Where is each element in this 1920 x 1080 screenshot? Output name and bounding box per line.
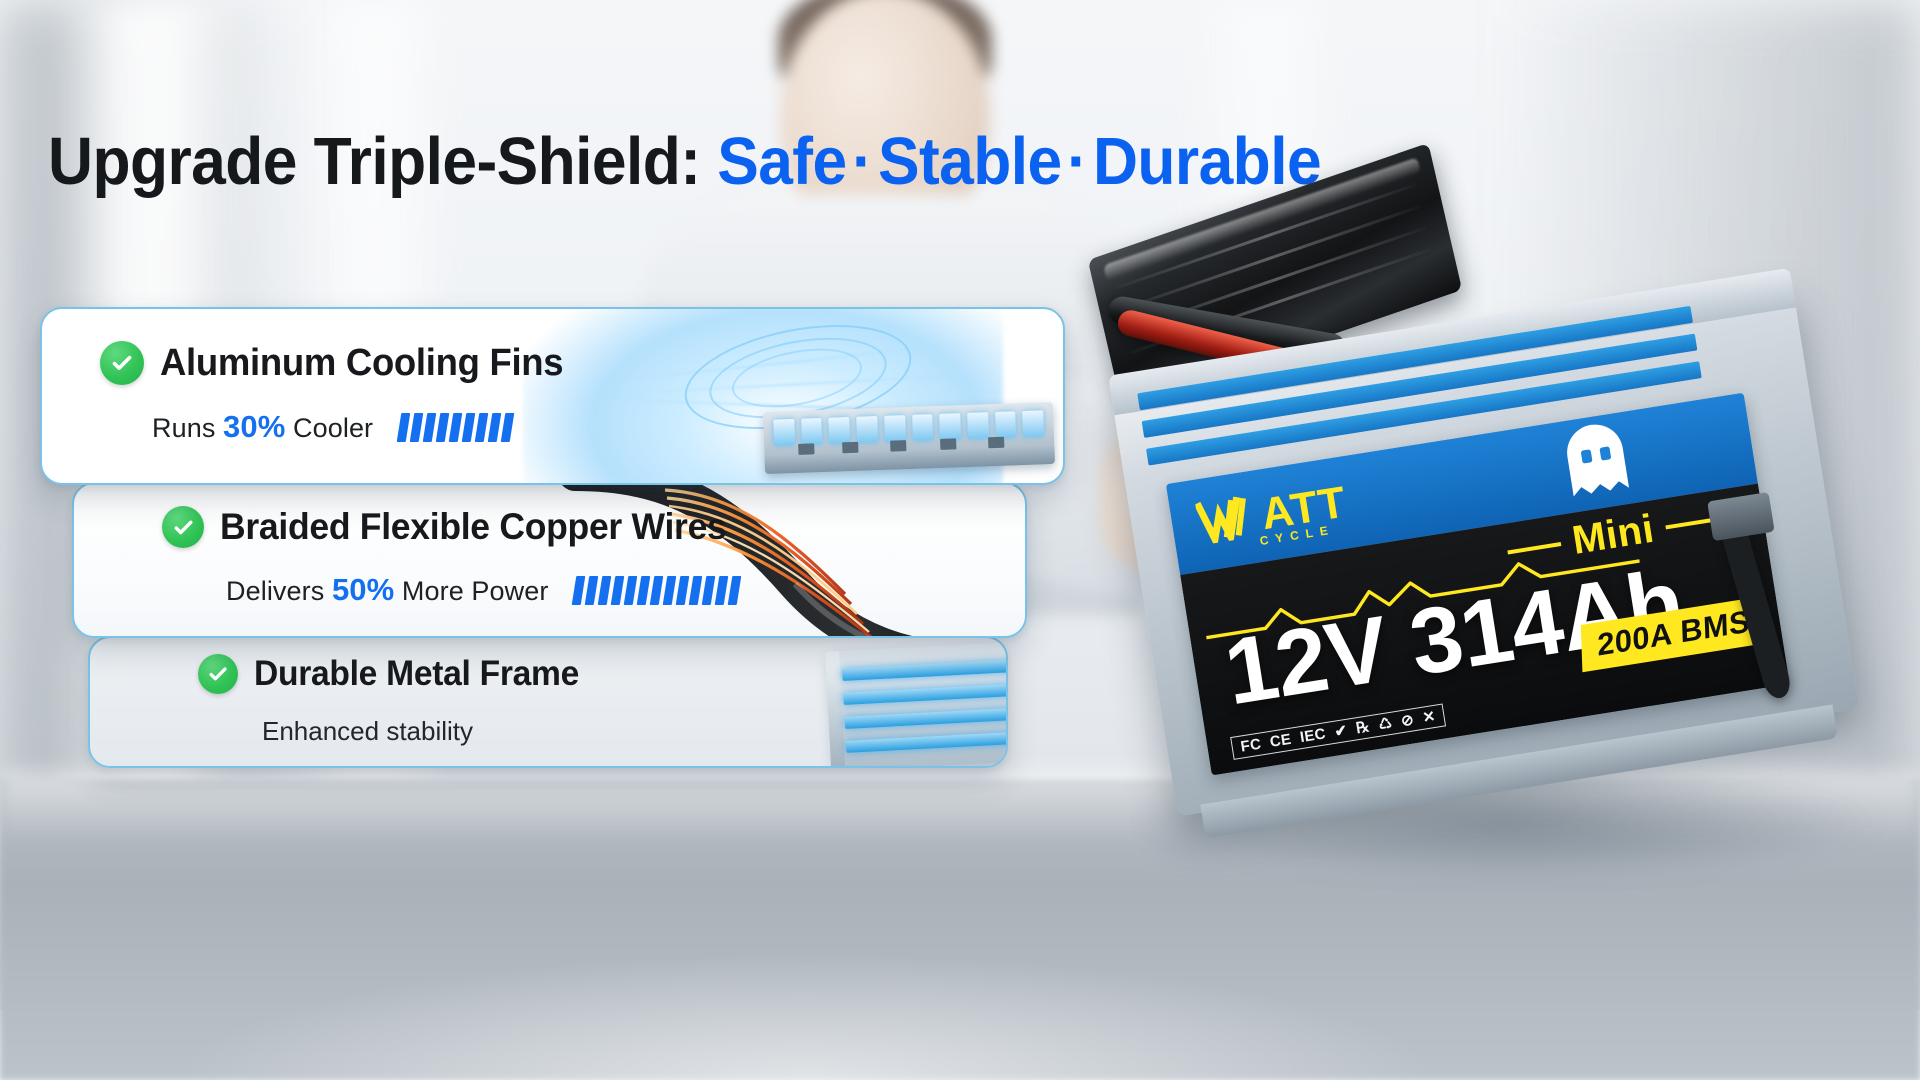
product-battery: ATT CYCLE Mini 12V 314Ah 200A — [1085, 185, 1915, 805]
headline-accent-safe: Safe — [717, 124, 846, 199]
meter-segment — [572, 576, 586, 605]
feature-heading-row: Aluminum Cooling Fins — [100, 341, 580, 385]
feature-subtitle-row: Enhanced stability — [262, 716, 473, 747]
stat-meter-bars — [399, 412, 512, 442]
meter-segment — [689, 576, 703, 605]
ghost-mascot-icon — [1555, 417, 1638, 503]
meter-segment — [676, 576, 690, 605]
poster-stage: Upgrade Triple-Shield: Safe·Stable·Durab… — [0, 0, 1920, 1080]
check-circle-icon — [198, 654, 238, 694]
meter-segment — [702, 576, 716, 605]
cert-recycle-icon: ♺ — [1378, 716, 1394, 733]
meter-segment — [663, 576, 677, 605]
meter-segment — [397, 413, 411, 442]
meter-segment — [585, 576, 599, 605]
cert-ce-icon: CE — [1269, 732, 1293, 750]
cert-nodispose-icon: ⊘ — [1400, 712, 1415, 729]
feature-stat-text: Delivers 50% More Power — [226, 572, 548, 608]
meter-segment — [462, 413, 476, 442]
headline-separator: · — [847, 124, 878, 199]
feature-stat-text: Runs 30% Cooler — [152, 409, 373, 445]
headline-dark-text: Upgrade Triple-Shield: — [48, 124, 700, 199]
cert-crossed-bin-icon: ✕ — [1422, 709, 1437, 726]
feature-heading-row: Braided Flexible Copper Wires — [162, 506, 748, 548]
meter-segment — [598, 576, 612, 605]
stat-meter-bars — [574, 575, 739, 605]
feature-stat-row: Runs 30% Cooler — [152, 409, 512, 445]
feature-card-durable-metal-frame[interactable]: Durable Metal Frame Enhanced stability — [88, 636, 1008, 768]
check-circle-icon — [162, 506, 204, 548]
stat-value: 30% — [223, 409, 285, 444]
meter-segment — [624, 576, 638, 605]
watt-w-icon — [1195, 490, 1263, 545]
meter-segment — [611, 576, 625, 605]
meter-segment — [488, 413, 502, 442]
stat-prefix: Runs — [152, 413, 215, 443]
feature-title: Durable Metal Frame — [254, 654, 579, 694]
meter-segment — [436, 413, 450, 442]
meter-segment — [449, 413, 463, 442]
stat-suffix: Cooler — [293, 413, 373, 443]
check-circle-icon — [100, 341, 144, 385]
feature-card-braided-copper-wires[interactable]: Braided Flexible Copper Wires Delivers 5… — [72, 482, 1027, 638]
battery-main-body: ATT CYCLE Mini 12V 314Ah 200A — [1111, 284, 1860, 817]
meter-segment — [715, 576, 729, 605]
feature-stat-row: Delivers 50% More Power — [226, 572, 739, 608]
meter-segment — [475, 413, 489, 442]
cert-rohs-icon: ℞ — [1355, 719, 1371, 736]
cert-fcc-icon: FC — [1240, 736, 1263, 754]
cert-check-icon: ✔ — [1333, 723, 1348, 740]
cert-iec-icon: IEC — [1299, 726, 1327, 745]
headline-accent-stable: Stable — [878, 124, 1062, 199]
badge-dash-left — [1507, 542, 1561, 554]
metal-frame-module-graphic — [829, 636, 1008, 768]
feature-title: Braided Flexible Copper Wires — [220, 506, 727, 548]
stat-prefix: Delivers — [226, 576, 324, 606]
feature-title: Aluminum Cooling Fins — [160, 342, 563, 385]
meter-segment — [410, 413, 424, 442]
stat-suffix: More Power — [402, 576, 549, 606]
feature-subtitle: Enhanced stability — [262, 716, 473, 746]
feature-heading-row: Durable Metal Frame — [198, 654, 593, 694]
feature-card-aluminum-cooling-fins[interactable]: Aluminum Cooling Fins Runs 30% Cooler — [40, 307, 1065, 485]
meter-segment — [650, 576, 664, 605]
background-floor-sheen — [0, 870, 1920, 1080]
cooling-fin-module-graphic — [763, 402, 1055, 474]
meter-segment — [423, 413, 437, 442]
meter-segment — [637, 576, 651, 605]
stat-value: 50% — [332, 572, 394, 607]
